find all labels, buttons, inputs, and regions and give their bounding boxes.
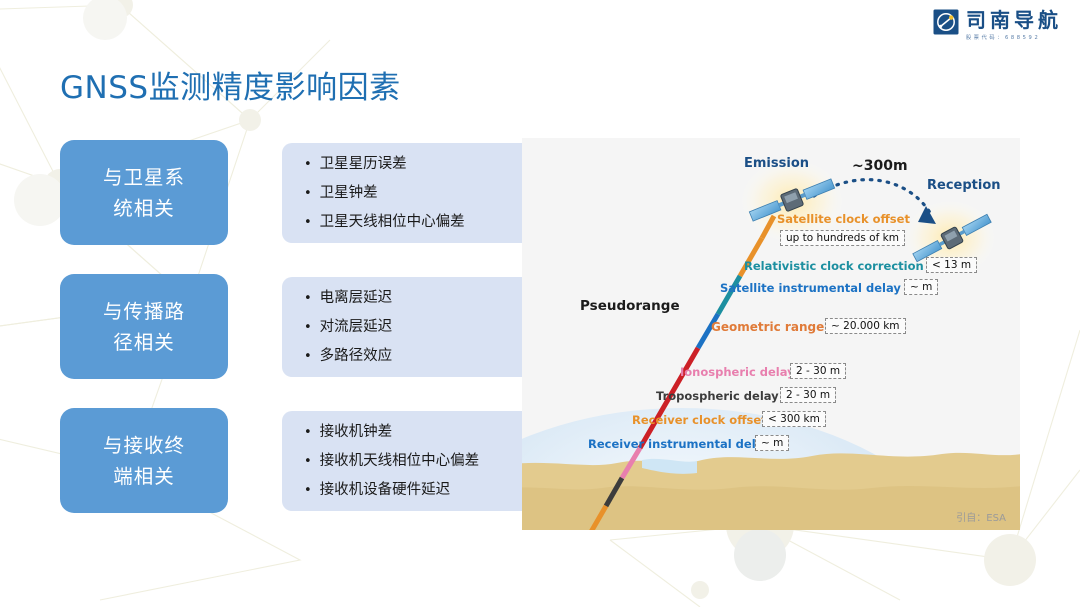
bullet-dot-icon: • — [304, 179, 312, 208]
value-satellite-instrumental-delay: ~ m — [904, 279, 938, 295]
label-emission: Emission — [744, 156, 809, 171]
value-tropospheric-delay: 2 - 30 m — [780, 387, 836, 403]
diagram-graphics — [522, 138, 1020, 530]
brand-name: 司南导航 — [966, 8, 1062, 32]
label-tropospheric-delay: Tropospheric delay — [656, 389, 779, 403]
label-geometric-range: Geometric range: ρ — [711, 320, 842, 334]
bullet-text: 接收机设备硬件延迟 — [320, 476, 451, 505]
value-satellite-clock-offset: up to hundreds of km — [780, 230, 905, 246]
factor-category-receiver[interactable]: 与接收终 端相关 — [60, 408, 228, 513]
label-ionospheric-delay: Ionospheric delay — [680, 365, 795, 379]
category-label-line2: 径相关 — [113, 327, 175, 358]
category-label-line2: 统相关 — [113, 193, 175, 224]
brand-logo: 司南导航 股票代码：688592 — [933, 8, 1062, 41]
bullet-text: 多路径效应 — [320, 342, 393, 371]
bullet-dot-icon: • — [304, 313, 312, 342]
factor-row: 与接收终 端相关 •接收机钟差 •接收机天线相位中心偏差 •接收机设备硬件延迟 — [60, 408, 510, 513]
bullet-text: 电离层延迟 — [320, 284, 393, 313]
slide: 司南导航 股票代码：688592 GNSS监测精度影响因素 与卫星系 统相关 •… — [0, 0, 1080, 607]
label-receiver-instrumental-delay: Receiver instrumental delay — [588, 437, 771, 451]
label-satellite-clock-offset: Satellite clock offset — [777, 212, 910, 226]
brand-stock-code: 股票代码：688592 — [966, 34, 1062, 41]
label-relativistic-clock-correction: Relativistic clock correction — [744, 259, 924, 273]
bullet-text: 对流层延迟 — [320, 313, 393, 342]
label-pseudorange: Pseudorange — [580, 298, 680, 314]
page-title: GNSS监测精度影响因素 — [60, 62, 401, 107]
bullet-text: 卫星星历误差 — [320, 150, 407, 179]
label-distance: ~300m — [852, 158, 908, 174]
factor-category-satellite[interactable]: 与卫星系 统相关 — [60, 140, 228, 245]
bullet-dot-icon: • — [304, 447, 312, 476]
bullet-dot-icon: • — [304, 476, 312, 505]
label-receiver-clock-offset: Receiver clock offset — [632, 413, 767, 427]
category-label-line1: 与接收终 — [103, 430, 185, 461]
value-receiver-instrumental-delay: ~ m — [755, 435, 789, 451]
bullet-text: 卫星钟差 — [320, 179, 378, 208]
bullet-text: 接收机钟差 — [320, 418, 393, 447]
value-relativistic-clock-correction: < 13 m — [926, 257, 977, 273]
value-receiver-clock-offset: < 300 km — [762, 411, 826, 427]
bullet-text: 接收机天线相位中心偏差 — [320, 447, 480, 476]
factor-row: 与传播路 径相关 •电离层延迟 •对流层延迟 •多路径效应 — [60, 274, 510, 379]
factor-category-propagation[interactable]: 与传播路 径相关 — [60, 274, 228, 379]
pseudorange-diagram: Emission ~300m Reception Pseudorange Sat… — [522, 138, 1020, 530]
category-label-line1: 与卫星系 — [103, 162, 185, 193]
label-satellite-instrumental-delay: Satellite instrumental delay — [720, 281, 901, 295]
category-label-line1: 与传播路 — [103, 296, 185, 327]
value-ionospheric-delay: 2 - 30 m — [790, 363, 846, 379]
citation: 引自：ESA — [956, 509, 1006, 524]
bullet-dot-icon: • — [304, 342, 312, 371]
value-geometric-range: ~ 20.000 km — [825, 318, 906, 334]
bullet-dot-icon: • — [304, 208, 312, 237]
bullet-dot-icon: • — [304, 284, 312, 313]
category-label-line2: 端相关 — [113, 461, 175, 492]
bullet-dot-icon: • — [304, 418, 312, 447]
compass-logo-icon — [933, 9, 959, 35]
bullet-dot-icon: • — [304, 150, 312, 179]
label-reception: Reception — [927, 178, 1001, 193]
bullet-text: 卫星天线相位中心偏差 — [320, 208, 465, 237]
factor-list: 与卫星系 统相关 •卫星星历误差 •卫星钟差 •卫星天线相位中心偏差 与传播路 … — [60, 140, 510, 542]
factor-row: 与卫星系 统相关 •卫星星历误差 •卫星钟差 •卫星天线相位中心偏差 — [60, 140, 510, 245]
